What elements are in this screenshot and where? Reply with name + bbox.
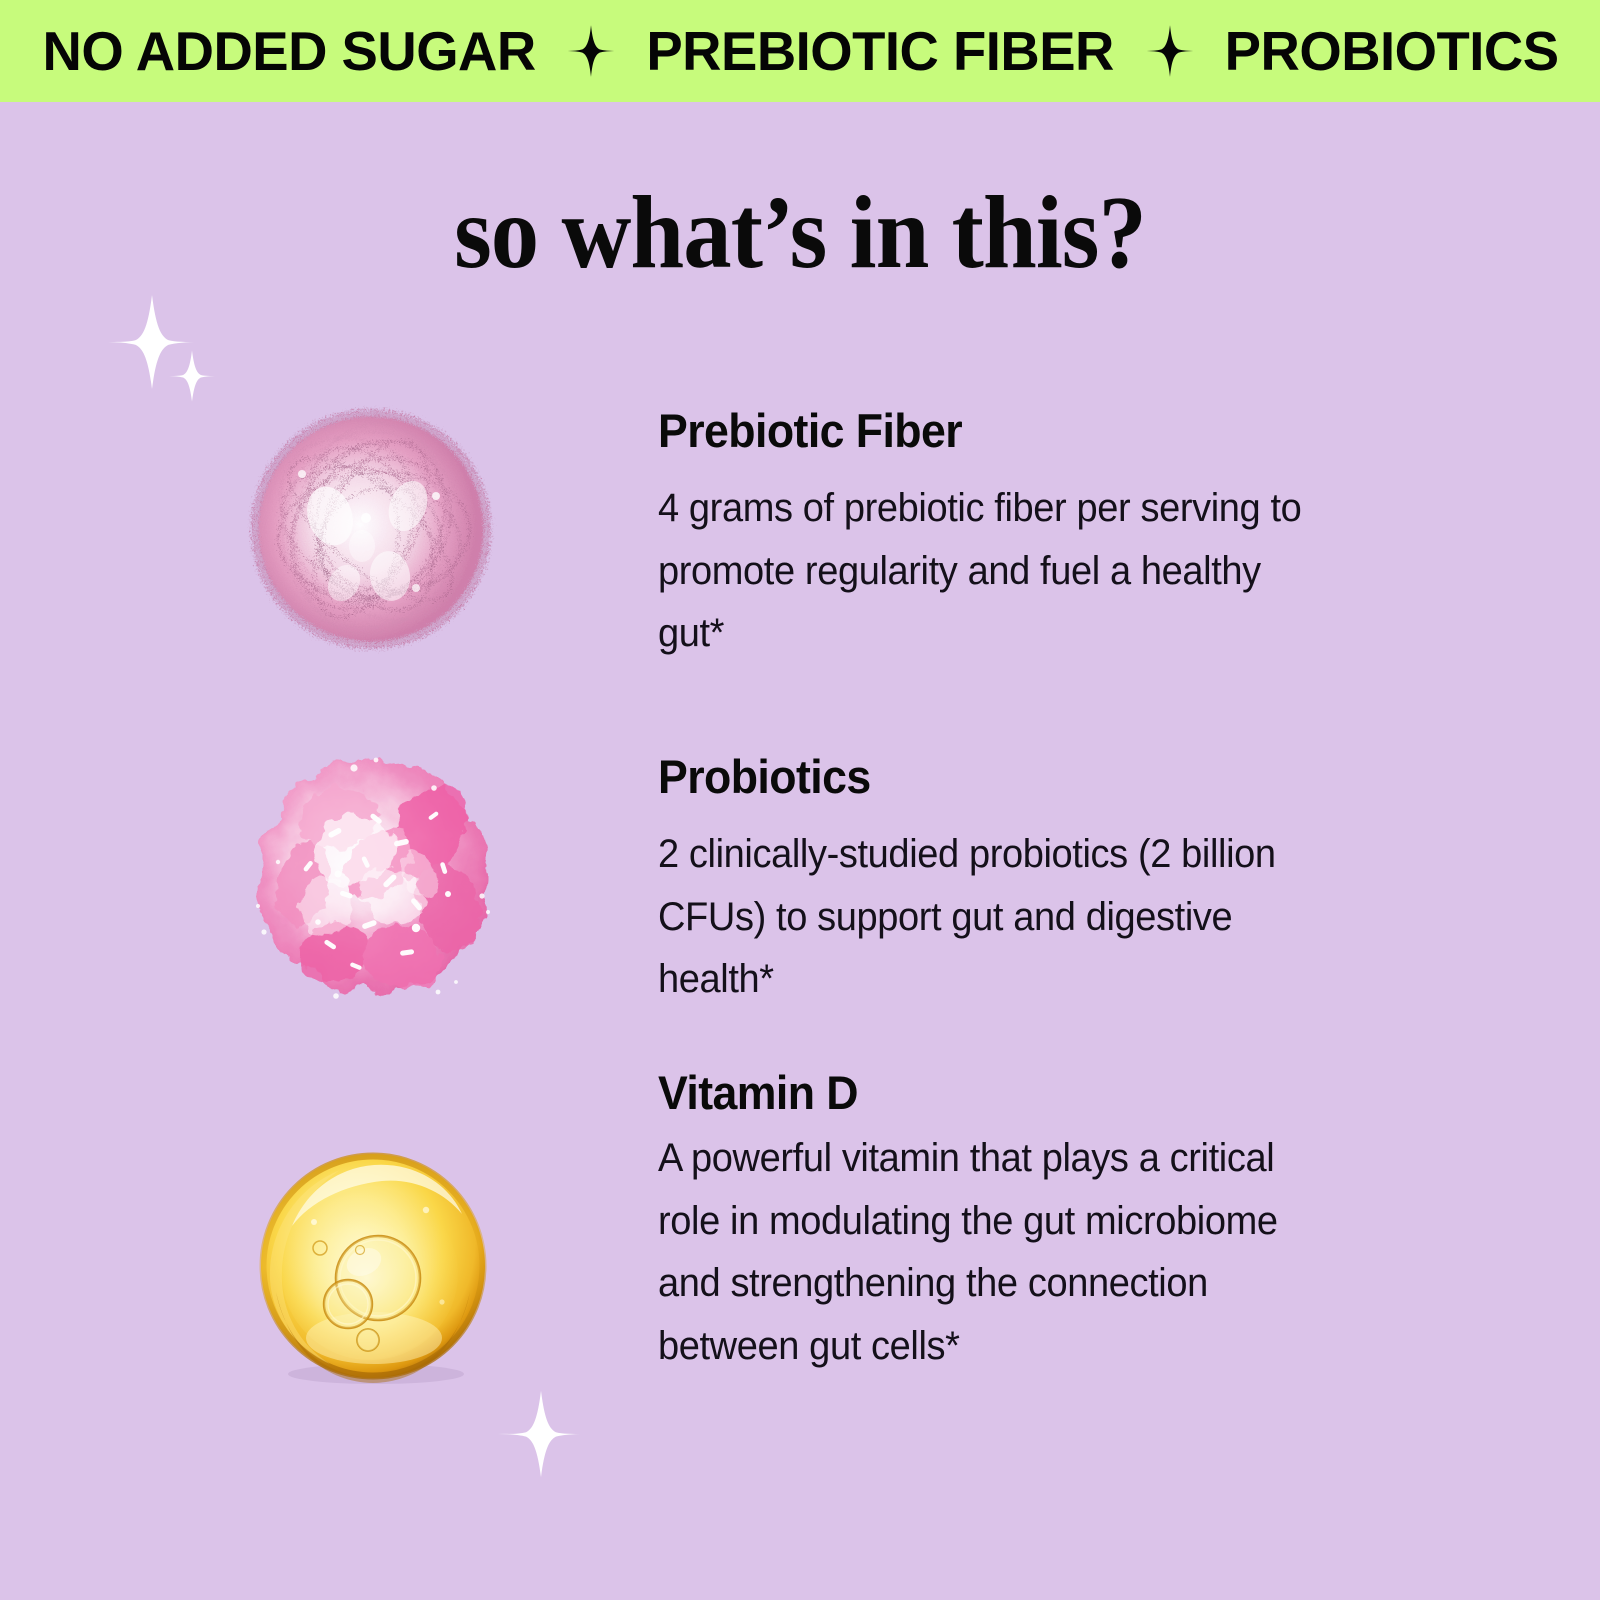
ingredient-title-probiotics: Probiotics xyxy=(658,752,1323,801)
ingredient-copy-probiotics: Probiotics 2 clinically-studied probioti… xyxy=(658,752,1358,1011)
banner-claim-no-added-sugar: NO ADDED SUGAR xyxy=(43,24,536,79)
prebiotic-fiber-image xyxy=(240,398,502,660)
ingredient-copy-prebiotic-fiber: Prebiotic Fiber 4 grams of prebiotic fib… xyxy=(658,406,1358,665)
probiotics-image xyxy=(242,746,504,1008)
ingredient-body-prebiotic-fiber: 4 grams of prebiotic fiber per serving t… xyxy=(658,477,1323,664)
ingredient-title-prebiotic-fiber: Prebiotic Fiber xyxy=(658,406,1323,455)
ingredient-copy-vitamin-d: Vitamin D A powerful vitamin that plays … xyxy=(658,1068,1358,1377)
product-ingredients-infographic: NO ADDED SUGAR PREBIOTIC FIBER PROBIOTIC… xyxy=(0,0,1600,1600)
four-point-star-icon-2 xyxy=(1143,24,1197,78)
sparkle-bottom-center-icon xyxy=(497,1386,585,1482)
ingredient-body-vitamin-d: A powerful vitamin that plays a critical… xyxy=(658,1127,1323,1377)
feature-banner: NO ADDED SUGAR PREBIOTIC FIBER PROBIOTIC… xyxy=(0,0,1600,102)
sparkle-small-top-left-icon xyxy=(166,348,218,404)
banner-claim-prebiotic-fiber: PREBIOTIC FIBER xyxy=(647,24,1115,79)
ingredient-title-vitamin-d: Vitamin D xyxy=(658,1068,1323,1117)
page-title: so what’s in this? xyxy=(56,178,1544,287)
banner-claim-probiotics: PROBIOTICS xyxy=(1224,24,1558,79)
vitamin-d-image xyxy=(256,1152,490,1386)
four-point-star-icon xyxy=(564,24,618,78)
sparkle-large-top-left-icon xyxy=(104,290,200,394)
ingredient-body-probiotics: 2 clinically-studied probiotics (2 billi… xyxy=(658,823,1323,1010)
